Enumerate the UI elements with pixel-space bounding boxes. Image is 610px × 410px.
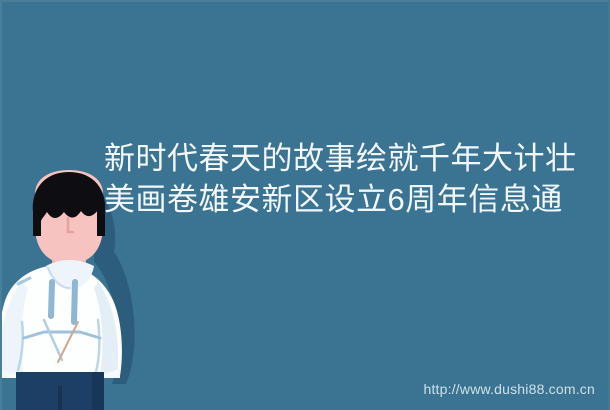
drawstring-left: [51, 282, 52, 316]
pants-shade: [92, 372, 104, 410]
headline-text: 新时代春天的故事绘就千年大计壮美画卷雄安新区设立6周年信息通: [104, 138, 604, 220]
site-watermark: http://www.dushi88.com.cn: [423, 381, 595, 397]
drawstring-right: [74, 282, 75, 322]
hair-side-left: [33, 210, 41, 236]
news-cover-image: 新时代春天的故事绘就千年大计壮美画卷雄安新区设立6周年信息通 http://ww…: [0, 0, 610, 410]
